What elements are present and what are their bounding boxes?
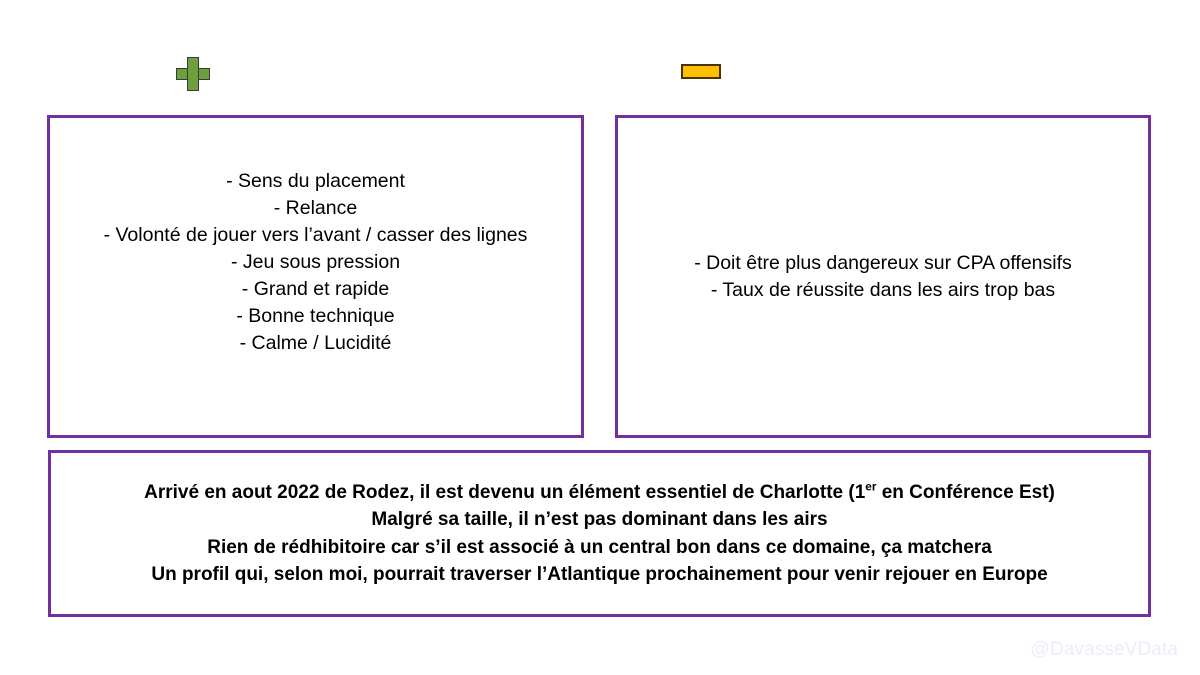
improvements-heading: Axes de progression bbox=[681, 57, 1020, 86]
list-item: - Grand et rapide bbox=[104, 276, 528, 303]
summary-line-text-tail: en Conférence Est) bbox=[876, 482, 1054, 503]
summary-line: Malgré sa taille, il n’est pas dominant … bbox=[371, 506, 827, 534]
summary-panel: Arrivé en aout 2022 de Rodez, il est dev… bbox=[48, 450, 1151, 617]
summary-line: Un profil qui, selon moi, pourrait trave… bbox=[151, 561, 1047, 589]
summary-line: Rien de rédhibitoire car s’il est associ… bbox=[207, 534, 992, 562]
list-item: - Calme / Lucidité bbox=[104, 330, 528, 357]
strengths-panel: - Sens du placement - Relance - Volonté … bbox=[47, 115, 584, 438]
watermark: @DavasseVData bbox=[1031, 639, 1178, 661]
list-item: - Volonté de jouer vers l’avant / casser… bbox=[104, 222, 528, 249]
summary-line-superscript: er bbox=[865, 480, 876, 493]
plus-icon bbox=[176, 57, 210, 91]
list-item: - Doit être plus dangereux sur CPA offen… bbox=[694, 250, 1072, 277]
list-item: - Bonne technique bbox=[104, 303, 528, 330]
improvements-heading-label: Axes de progression bbox=[737, 57, 1020, 86]
list-item: - Taux de réussite dans les airs trop ba… bbox=[694, 277, 1072, 304]
improvements-list: - Doit être plus dangereux sur CPA offen… bbox=[694, 250, 1072, 304]
list-item: - Jeu sous pression bbox=[104, 249, 528, 276]
list-item: - Sens du placement bbox=[104, 168, 528, 195]
summary-line-text: Arrivé en aout 2022 de Rodez, il est dev… bbox=[144, 482, 865, 503]
slide-canvas: Points Forts Axes de progression - Sens … bbox=[0, 0, 1200, 675]
summary-line: Arrivé en aout 2022 de Rodez, il est dev… bbox=[144, 479, 1055, 507]
strengths-heading: Points Forts bbox=[176, 57, 393, 91]
improvements-panel: - Doit être plus dangereux sur CPA offen… bbox=[615, 115, 1151, 438]
strengths-heading-label: Points Forts bbox=[226, 60, 393, 89]
list-item: - Relance bbox=[104, 195, 528, 222]
minus-icon bbox=[681, 64, 721, 79]
strengths-list: - Sens du placement - Relance - Volonté … bbox=[104, 168, 528, 357]
